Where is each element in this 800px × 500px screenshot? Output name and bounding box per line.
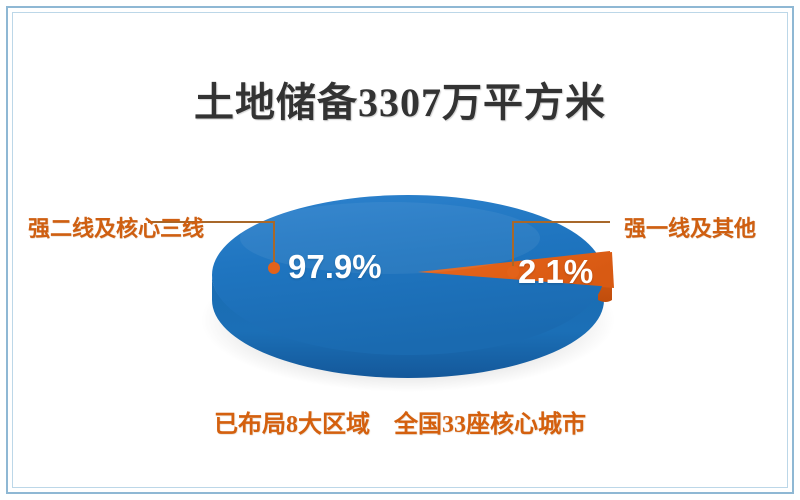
value-label-major: 97.9% (288, 248, 382, 286)
infographic-slide: 土地储备3307万平方米 (0, 0, 800, 500)
leader-dot-left (268, 262, 280, 274)
callout-label-major: 强二线及核心三线 (28, 211, 204, 243)
value-label-minor: 2.1% (518, 253, 593, 291)
pie-highlight (240, 202, 540, 274)
footer-caption: 已布局8大区域 全国33座核心城市 (0, 404, 800, 439)
callout-label-minor: 强一线及其他 (624, 211, 756, 243)
